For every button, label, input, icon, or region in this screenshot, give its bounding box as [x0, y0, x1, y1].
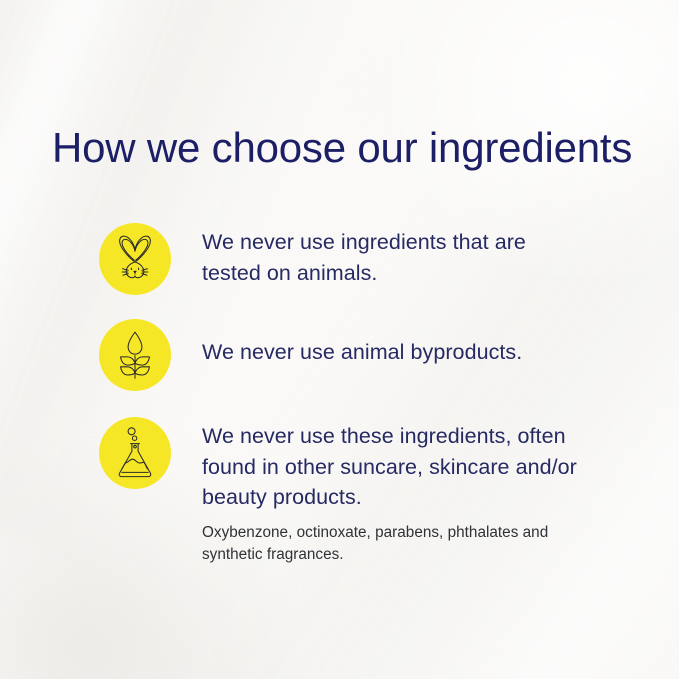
list-item-label: We never use these ingredients, often fo… — [202, 421, 604, 513]
list-item-label: We never use ingredients that are tested… — [202, 227, 562, 288]
list-item: We never use ingredients that are tested… — [99, 223, 629, 295]
page-title: How we choose our ingredients — [52, 124, 632, 172]
list-item-fineprint: Oxybenzone, octinoxate, parabens, phthal… — [202, 522, 572, 567]
claim-text-wrap: We never use animal byproducts. — [202, 319, 522, 368]
list-item-label: We never use animal byproducts. — [202, 323, 522, 368]
bunny-heart-ears-icon — [99, 223, 171, 295]
ingredients-infographic: How we choose our ingredients — [0, 0, 679, 679]
list-item: We never use animal byproducts. — [99, 319, 629, 391]
claims-list: We never use ingredients that are tested… — [99, 223, 629, 567]
claim-text-wrap: We never use these ingredients, often fo… — [202, 417, 604, 567]
plant-leaf-sprout-icon — [99, 319, 171, 391]
list-item: We never use these ingredients, often fo… — [99, 417, 629, 567]
erlenmeyer-flask-icon — [99, 417, 171, 489]
claim-text-wrap: We never use ingredients that are tested… — [202, 223, 562, 288]
